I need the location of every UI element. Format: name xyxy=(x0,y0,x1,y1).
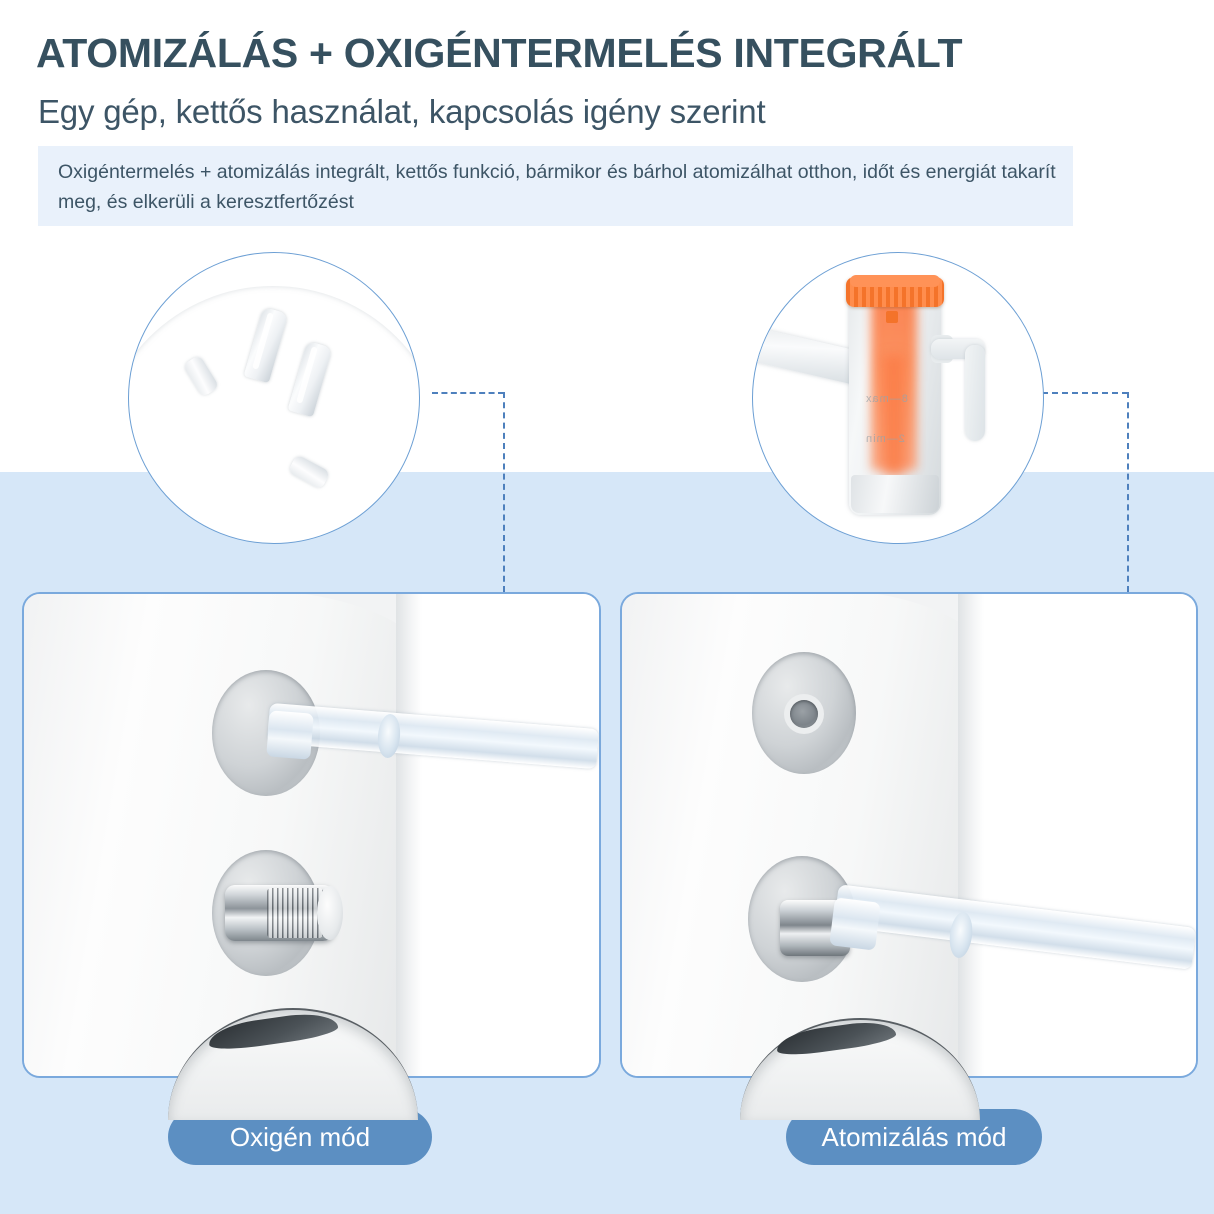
cannula-tube-highlight xyxy=(128,252,420,544)
infographic-page: ATOMIZÁLÁS + OXIGÉNTERMELÉS INTEGRÁLT Eg… xyxy=(0,0,1214,1214)
mode-panel-atomization xyxy=(620,592,1198,1078)
description-text: Oxigéntermelés + atomizálás integrált, k… xyxy=(58,157,1058,217)
panel-background xyxy=(422,592,601,1078)
panel-background xyxy=(984,592,1198,1078)
connector-line-right-vertical xyxy=(1127,392,1129,592)
page-subtitle: Egy gép, kettős használat, kapcsolás igé… xyxy=(38,93,765,131)
nozzle-cap xyxy=(317,886,343,940)
nebulizer-cup-image: 8—max 2—min xyxy=(753,253,1043,543)
tube-ferrule-right xyxy=(829,897,881,950)
atomization-nozzle-left xyxy=(225,885,335,941)
cap-notch xyxy=(886,311,898,323)
cup-graduation-max: 8—max xyxy=(865,393,908,405)
elbow-vertical xyxy=(965,345,985,441)
cup-base xyxy=(851,475,939,513)
connector-line-left-vertical xyxy=(503,392,505,592)
orange-cap-top xyxy=(850,275,940,287)
cup-graduation-min: 2—min xyxy=(865,433,905,445)
nasal-cannula-image xyxy=(129,253,419,543)
mode-panel-oxygen xyxy=(22,592,601,1078)
device-body-edge xyxy=(958,592,984,1078)
cup-fluid-core xyxy=(883,355,905,475)
page-title: ATOMIZÁLÁS + OXIGÉNTERMELÉS INTEGRÁLT xyxy=(36,30,962,77)
device-body-edge xyxy=(396,592,422,1078)
product-circle-nebulizer-cup: 8—max 2—min xyxy=(752,252,1044,544)
description-box: Oxigéntermelés + atomizálás integrált, k… xyxy=(38,146,1073,226)
tube-ferrule-left xyxy=(266,710,314,759)
connector-line-right-horizontal xyxy=(1032,392,1128,394)
product-circle-nasal-cannula xyxy=(128,252,420,544)
nozzle-ridges xyxy=(267,888,323,938)
port-hole-oxygen-right xyxy=(790,700,818,728)
device-body xyxy=(22,592,422,1078)
connector-line-left-horizontal xyxy=(432,392,504,394)
